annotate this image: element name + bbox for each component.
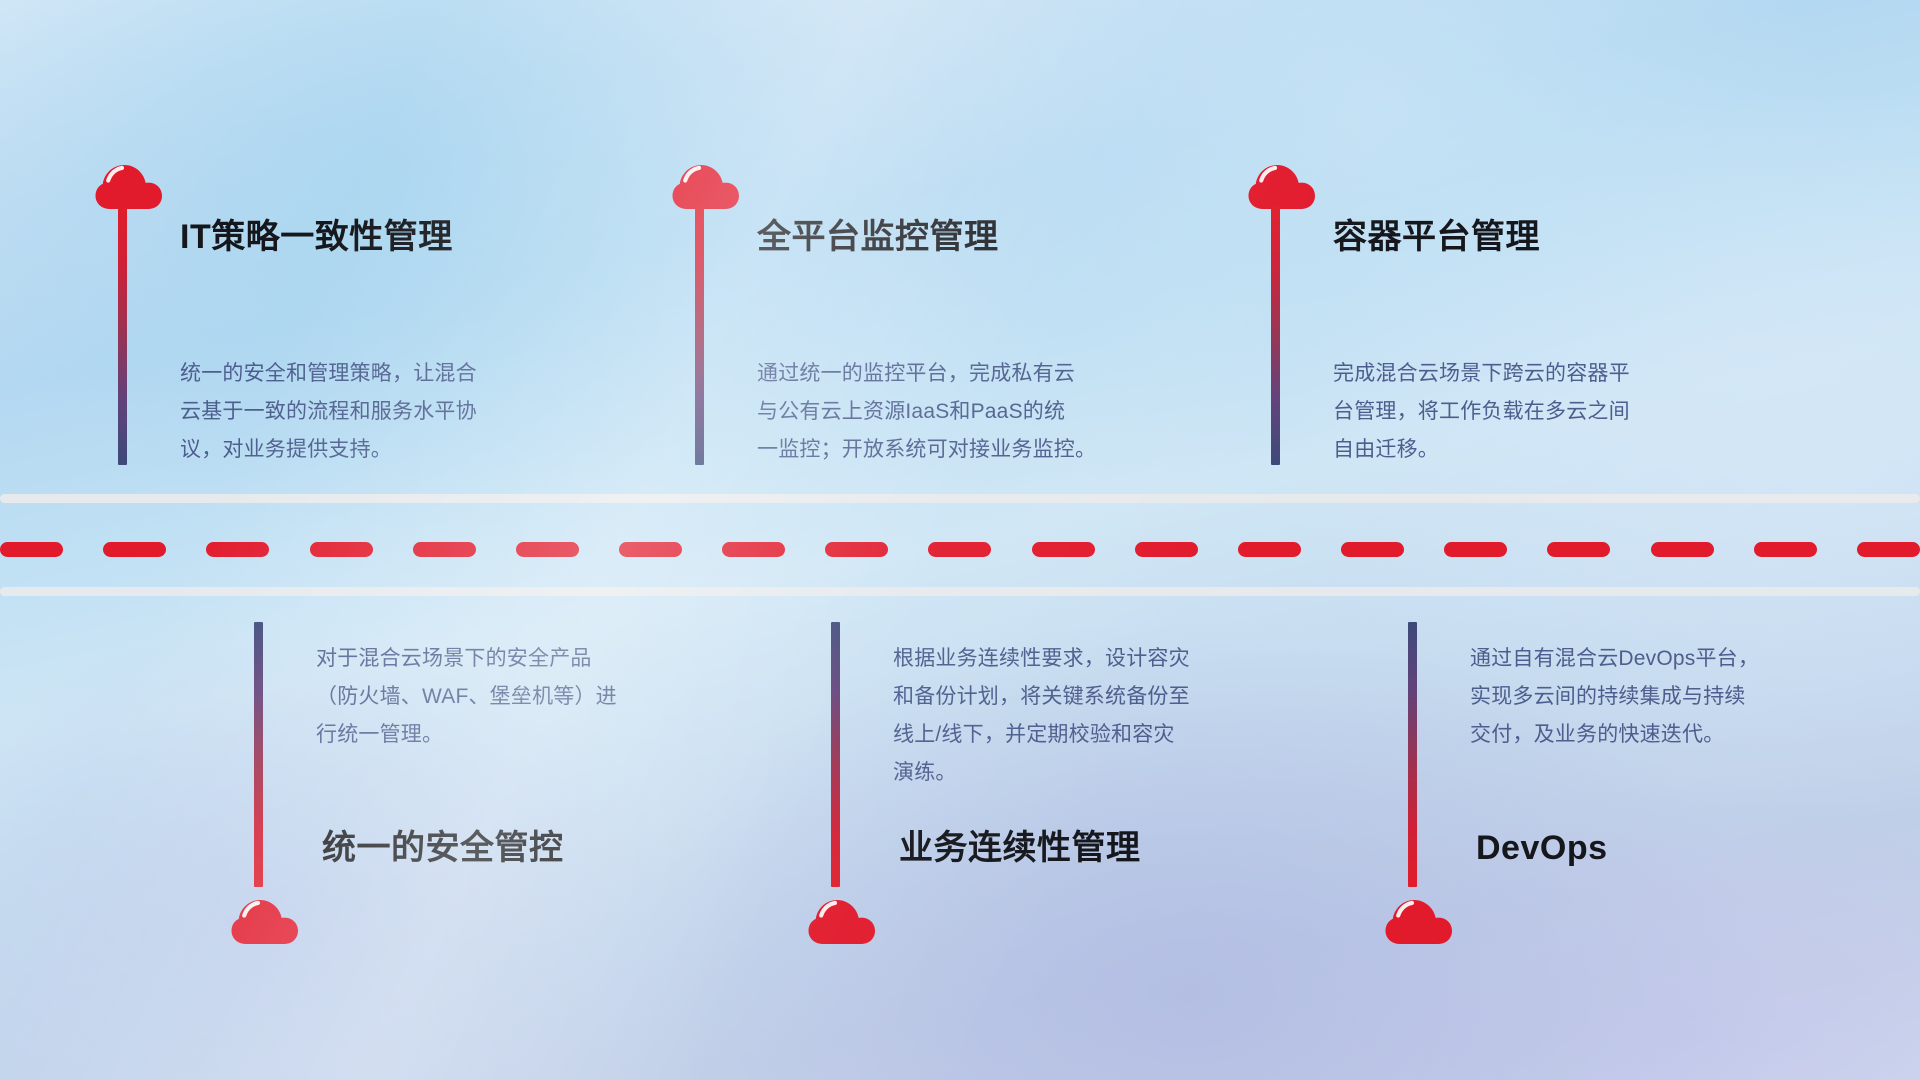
- connector-stem: [254, 622, 263, 887]
- connector-stem: [1271, 207, 1280, 465]
- divider-dash: [722, 542, 785, 557]
- text-line: 实现多云间的持续集成与持续: [1470, 678, 1920, 716]
- cloud-icon: [95, 160, 163, 210]
- text-line: 和备份计划，将关键系统备份至: [893, 678, 1363, 716]
- cloud-icon: [808, 895, 876, 945]
- divider-dash: [1857, 542, 1920, 557]
- divider-dash: [928, 542, 991, 557]
- infographic-canvas: IT策略一致性管理 统一的安全和管理策略，让混合 云基于一致的流程和服务水平协 …: [0, 0, 1920, 1080]
- divider-dash: [1651, 542, 1714, 557]
- feature-description: 对于混合云场景下的安全产品 （防火墙、WAF、堡垒机等）进 行统一管理。: [316, 640, 786, 754]
- connector-stem: [1408, 622, 1417, 887]
- divider-dash: [1754, 542, 1817, 557]
- cloud-icon: [1248, 160, 1316, 210]
- text-line: 云基于一致的流程和服务水平协: [180, 393, 650, 431]
- feature-description: 完成混合云场景下跨云的容器平 台管理，将工作负载在多云之间 自由迁移。: [1333, 355, 1803, 469]
- feature-heading: 业务连续性管理: [899, 828, 1141, 869]
- text-line: 根据业务连续性要求，设计容灾: [893, 640, 1363, 678]
- text-line: 线上/线下，并定期校验和容灾: [893, 716, 1363, 754]
- divider-dash: [1135, 542, 1198, 557]
- text-line: 行统一管理。: [316, 716, 786, 754]
- text-line: 演练。: [893, 754, 1363, 792]
- cloud-icon: [231, 895, 299, 945]
- connector-stem: [695, 207, 704, 465]
- text-line: 台管理，将工作负载在多云之间: [1333, 393, 1803, 431]
- divider-rail-bottom: [0, 587, 1920, 596]
- text-line: 完成混合云场景下跨云的容器平: [1333, 355, 1803, 393]
- cloud-icon: [1385, 895, 1453, 945]
- feature-description: 通过统一的监控平台，完成私有云 与公有云上资源IaaS和PaaS的统 一监控；开…: [757, 355, 1227, 469]
- divider-dash: [0, 542, 63, 557]
- text-line: 统一的安全和管理策略，让混合: [180, 355, 650, 393]
- text-line: 交付，及业务的快速迭代。: [1470, 716, 1920, 754]
- text-line: （防火墙、WAF、堡垒机等）进: [316, 678, 786, 716]
- divider-dash: [206, 542, 269, 557]
- text-line: 议，对业务提供支持。: [180, 431, 650, 469]
- connector-stem: [831, 622, 840, 887]
- feature-heading: DevOps: [1476, 828, 1608, 869]
- feature-description: 根据业务连续性要求，设计容灾 和备份计划，将关键系统备份至 线上/线下，并定期校…: [893, 640, 1363, 792]
- divider-dash: [103, 542, 166, 557]
- divider-dash: [825, 542, 888, 557]
- cloud-icon: [672, 160, 740, 210]
- divider-dash: [516, 542, 579, 557]
- divider-dash: [1238, 542, 1301, 557]
- divider-dash: [1032, 542, 1095, 557]
- divider-dash: [1547, 542, 1610, 557]
- feature-heading: IT策略一致性管理: [180, 217, 453, 258]
- text-line: 一监控；开放系统可对接业务监控。: [757, 431, 1227, 469]
- text-line: 通过统一的监控平台，完成私有云: [757, 355, 1227, 393]
- divider-dash: [1341, 542, 1404, 557]
- feature-heading: 统一的安全管控: [322, 828, 564, 869]
- connector-stem: [118, 207, 127, 465]
- feature-description: 通过自有混合云DevOps平台， 实现多云间的持续集成与持续 交付，及业务的快速…: [1470, 640, 1920, 754]
- text-line: 自由迁移。: [1333, 431, 1803, 469]
- divider-rail-top: [0, 494, 1920, 503]
- divider-dash: [310, 542, 373, 557]
- divider-dash: [1444, 542, 1507, 557]
- divider-dash: [619, 542, 682, 557]
- text-line: 与公有云上资源IaaS和PaaS的统: [757, 393, 1227, 431]
- feature-heading: 容器平台管理: [1333, 217, 1540, 258]
- feature-description: 统一的安全和管理策略，让混合 云基于一致的流程和服务水平协 议，对业务提供支持。: [180, 355, 650, 469]
- divider-dash: [413, 542, 476, 557]
- text-line: 通过自有混合云DevOps平台，: [1470, 640, 1920, 678]
- feature-heading: 全平台监控管理: [757, 217, 999, 258]
- text-line: 对于混合云场景下的安全产品: [316, 640, 786, 678]
- divider-dashed-line: [0, 542, 1920, 557]
